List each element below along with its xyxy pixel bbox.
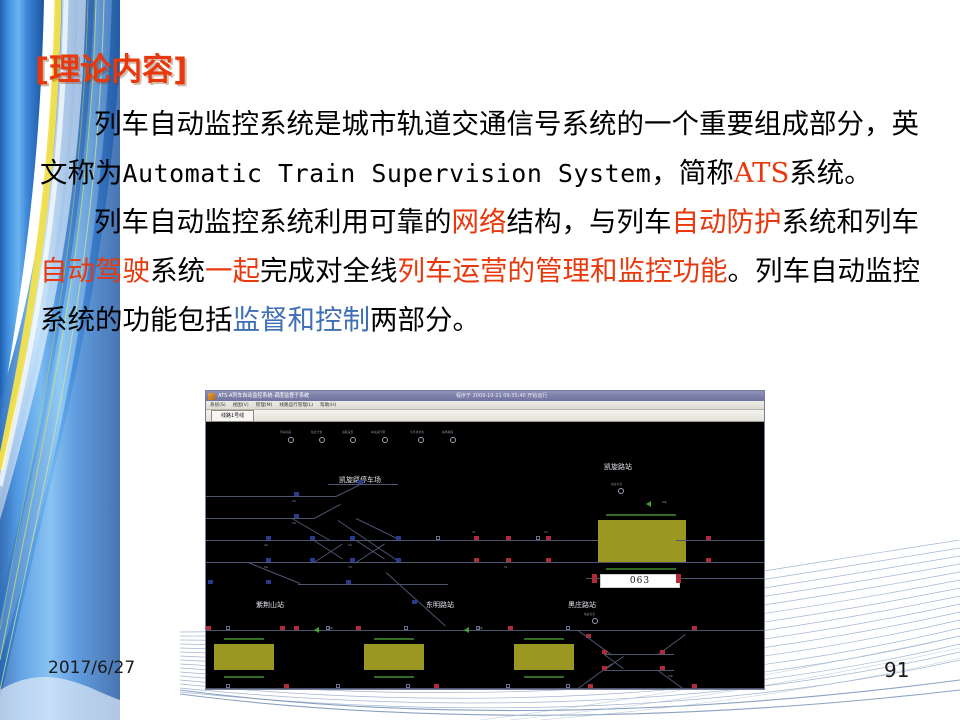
track-lower-down bbox=[206, 688, 764, 689]
body-text-block: 列车自动监控系统是城市轨道交通信号系统的一个重要组成部分，英文称为Automat… bbox=[40, 100, 930, 345]
run-p2-0: 列车自动监控系统利用可靠的 bbox=[94, 206, 452, 238]
crossover-segment bbox=[314, 540, 343, 559]
run-p2-1: 网络 bbox=[452, 206, 507, 238]
run-p2-7: 一起 bbox=[205, 255, 260, 287]
run-p2-11: 监督和控制 bbox=[233, 304, 371, 336]
track-circuit-box bbox=[476, 626, 480, 630]
signal-marker-red[interactable] bbox=[660, 650, 665, 654]
platform-block bbox=[214, 644, 274, 670]
menu-item-view[interactable]: 视图(V) bbox=[233, 401, 249, 410]
track-circuit-box bbox=[436, 536, 440, 540]
signal-marker-red[interactable] bbox=[706, 536, 711, 540]
track-segment bbox=[328, 484, 398, 485]
run-p2-9: 列车运营的管理和监控功能 bbox=[398, 255, 728, 287]
signal-marker-red[interactable] bbox=[356, 626, 361, 630]
signal-marker-blue[interactable] bbox=[266, 536, 271, 540]
platform-edge-bar bbox=[606, 568, 676, 570]
track-segment bbox=[314, 504, 341, 519]
signal-marker-red[interactable] bbox=[506, 536, 511, 540]
run-p1-2: ，简称 bbox=[651, 157, 734, 189]
menu-item-manage[interactable]: 管理(M) bbox=[256, 401, 273, 410]
toolbar-button-5[interactable] bbox=[450, 437, 456, 443]
station-label-dongminglu: 东明路站 bbox=[426, 600, 454, 610]
signal-marker-blue[interactable] bbox=[350, 558, 355, 562]
signal-marker-red[interactable] bbox=[692, 684, 697, 688]
track-segment bbox=[676, 562, 764, 563]
track-segment bbox=[604, 654, 674, 655]
signal-marker-red[interactable] bbox=[508, 626, 513, 630]
direction-arrow-left-icon bbox=[314, 627, 319, 633]
signal-id-label: S2 bbox=[504, 565, 508, 569]
platform-info-button-bottom[interactable] bbox=[592, 618, 598, 624]
platform-edge-bar bbox=[374, 638, 414, 640]
train-marker-head bbox=[592, 574, 597, 583]
track-circuit-box bbox=[566, 626, 570, 630]
run-p1-1: Automatic Train Supervision System bbox=[123, 159, 652, 188]
menu-item-system[interactable]: 系统(S) bbox=[210, 401, 226, 410]
crossover-segment bbox=[314, 544, 343, 563]
ats-menubar: 系统(S) 视图(V) 管理(M) 线路运行管理(L) 帮助(H) bbox=[206, 401, 764, 410]
run-p2-6: 系统 bbox=[150, 255, 205, 287]
signal-marker-red[interactable] bbox=[546, 558, 551, 562]
crossover-segment bbox=[248, 562, 300, 584]
toolbar-label-2: 进路设置 bbox=[342, 430, 353, 434]
ats-screenshot-image: ATS-A列车自动监控系统-调度监督子系统 程序于 2009-10-21 09:… bbox=[205, 390, 765, 690]
track-id-label: 4G bbox=[264, 543, 268, 547]
run-p2-12: 两部分。 bbox=[370, 304, 480, 336]
track-circuit-box bbox=[226, 684, 230, 688]
track-segment bbox=[604, 670, 674, 671]
run-p2-5: 自动驾驶 bbox=[40, 255, 150, 287]
platform-edge-bar bbox=[606, 514, 676, 516]
toolbar-button-1[interactable] bbox=[319, 437, 325, 443]
signal-marker-blue[interactable] bbox=[412, 600, 417, 604]
ats-window-status: 程序于 2009-10-21 09:35:40 开始运行 bbox=[456, 391, 547, 401]
app-icon bbox=[208, 393, 215, 400]
signal-marker-red[interactable] bbox=[660, 666, 665, 670]
signal-marker-red[interactable] bbox=[588, 684, 593, 688]
track-circuit-box bbox=[336, 684, 340, 688]
station-label-kaixuanlu: 凯旋路站 bbox=[604, 462, 632, 472]
signal-marker-red[interactable] bbox=[280, 626, 285, 630]
signal-marker-blue[interactable] bbox=[310, 536, 315, 540]
signal-marker-red[interactable] bbox=[692, 626, 697, 630]
track-id-label: 6G bbox=[264, 565, 268, 569]
ats-track-diagram-canvas: 列车追踪 站台计划 进路设置 车站运行图 信号机状态 站场模拟 凯旋路停车场 凯… bbox=[206, 422, 764, 690]
platform-block bbox=[598, 520, 686, 562]
direction-arrow-right-icon: ⇨ bbox=[662, 500, 667, 506]
toolbar-label-1: 站台计划 bbox=[311, 430, 322, 434]
platform-block bbox=[514, 644, 574, 670]
signal-marker-blue[interactable] bbox=[358, 480, 363, 484]
slide-canvas: [理论内容] 列车自动监控系统是城市轨道交通信号系统的一个重要组成部分，英文称为… bbox=[0, 0, 960, 720]
signal-marker-red[interactable] bbox=[294, 626, 299, 630]
track-segment bbox=[266, 518, 314, 519]
run-p2-4: 系统和列车 bbox=[782, 206, 920, 238]
platform-edge-bar bbox=[374, 676, 414, 678]
signal-marker-red[interactable] bbox=[546, 536, 551, 540]
train-number-box[interactable]: 063 bbox=[600, 574, 680, 588]
footer-date: 2017/6/27 bbox=[48, 658, 135, 678]
signal-marker-blue[interactable] bbox=[346, 580, 351, 584]
signal-id-label: X3 bbox=[544, 530, 548, 534]
track-circuit-box bbox=[566, 684, 570, 688]
run-p2-2: 结构，与列车 bbox=[507, 206, 672, 238]
toolbar-label-4: 信号机状态 bbox=[410, 430, 424, 434]
toolbar-label-3: 车站运行图 bbox=[371, 430, 385, 434]
platform-info-label-bottom: 站台信息 bbox=[584, 612, 595, 616]
signal-marker-blue[interactable] bbox=[396, 558, 401, 562]
crossover-segment bbox=[578, 630, 613, 655]
signal-id-label: X1 bbox=[472, 530, 476, 534]
signal-marker-blue[interactable] bbox=[294, 492, 299, 496]
signal-marker-red[interactable] bbox=[602, 666, 607, 670]
run-p2-8: 完成对全线 bbox=[260, 255, 398, 287]
toolbar-button-3[interactable] bbox=[382, 437, 388, 443]
platform-edge-bar bbox=[224, 638, 264, 640]
signal-marker-blue[interactable] bbox=[208, 580, 213, 584]
signal-marker-red[interactable] bbox=[284, 684, 289, 688]
tab-line-1[interactable]: 线路1号线 bbox=[211, 410, 254, 422]
platform-edge-bar bbox=[524, 676, 564, 678]
run-p2-3: 自动防护 bbox=[672, 206, 782, 238]
track-segment bbox=[336, 485, 360, 497]
toolbar-label-5: 站场模拟 bbox=[442, 430, 453, 434]
signal-marker-red[interactable] bbox=[434, 684, 439, 688]
signal-marker-red[interactable] bbox=[474, 536, 479, 540]
toolbar-button-0[interactable] bbox=[288, 437, 294, 443]
track-segment bbox=[206, 496, 336, 497]
ats-window-title: ATS-A列车自动监控系统-调度监督子系统 bbox=[218, 391, 309, 402]
track-segment bbox=[676, 540, 764, 541]
track-id-label: 5G bbox=[348, 543, 352, 547]
menu-item-help[interactable]: 帮助(H) bbox=[320, 401, 336, 410]
signal-marker-red[interactable] bbox=[706, 558, 711, 562]
toolbar-button-2[interactable] bbox=[350, 437, 356, 443]
track-lower-up bbox=[206, 630, 764, 631]
run-p1-3: ATS bbox=[734, 157, 790, 189]
track-id-label: 7G bbox=[348, 565, 352, 569]
platform-block bbox=[364, 644, 424, 670]
train-marker-tail bbox=[676, 574, 681, 583]
direction-arrow-right-icon: ⇨ bbox=[668, 674, 673, 680]
ats-tabstrip: 线路1号线 bbox=[206, 410, 764, 422]
station-label-zijingshan: 紫荆山站 bbox=[256, 600, 284, 610]
platform-edge-bar bbox=[524, 638, 564, 640]
track-circuit-box bbox=[406, 684, 410, 688]
paragraph-2: 列车自动监控系统利用可靠的网络结构，与列车自动防护系统和列车自动驾驶系统一起完成… bbox=[40, 198, 930, 345]
track-id-label: 2G bbox=[292, 499, 296, 503]
toolbar-label-0: 列车追踪 bbox=[280, 430, 291, 434]
run-p1-4: 系统。 bbox=[789, 157, 872, 189]
platform-edge-bar bbox=[224, 676, 264, 678]
signal-marker-blue[interactable] bbox=[266, 580, 271, 584]
direction-arrow-left-icon bbox=[464, 627, 469, 633]
crossover-segment bbox=[356, 544, 385, 563]
footer-page-number: 91 bbox=[884, 658, 909, 682]
signal-marker-blue[interactable] bbox=[310, 558, 315, 562]
track-segment bbox=[298, 584, 448, 585]
track-circuit-box bbox=[404, 626, 408, 630]
signal-marker-blue[interactable] bbox=[266, 558, 271, 562]
track-circuit-box bbox=[226, 626, 230, 630]
signal-marker-red[interactable] bbox=[506, 558, 511, 562]
platform-info-button-top[interactable] bbox=[618, 488, 624, 494]
track-id-label: 1G bbox=[356, 474, 360, 478]
track-circuit-box bbox=[536, 536, 540, 540]
ats-titlebar: ATS-A列车自动监控系统-调度监督子系统 程序于 2009-10-21 09:… bbox=[206, 391, 764, 401]
page-title: [理论内容] bbox=[35, 55, 187, 86]
track-circuit-box bbox=[506, 684, 510, 688]
paragraph-1: 列车自动监控系统是城市轨道交通信号系统的一个重要组成部分，英文称为Automat… bbox=[40, 100, 930, 198]
direction-arrow-left-icon bbox=[646, 501, 651, 507]
signal-marker-red[interactable] bbox=[474, 558, 479, 562]
platform-info-label-top: 站台信息 bbox=[611, 482, 622, 486]
track-main-down bbox=[206, 562, 676, 563]
signal-marker-red[interactable] bbox=[206, 626, 211, 630]
signal-marker-blue[interactable] bbox=[350, 536, 355, 540]
signal-marker-blue[interactable] bbox=[396, 536, 401, 540]
signal-marker-red[interactable] bbox=[602, 650, 607, 654]
toolbar-button-4[interactable] bbox=[418, 437, 424, 443]
station-label-heizhuanglu: 黑庄路站 bbox=[568, 600, 596, 610]
track-circuit-box bbox=[326, 626, 330, 630]
menu-item-line-ops[interactable]: 线路运行管理(L) bbox=[279, 401, 313, 410]
